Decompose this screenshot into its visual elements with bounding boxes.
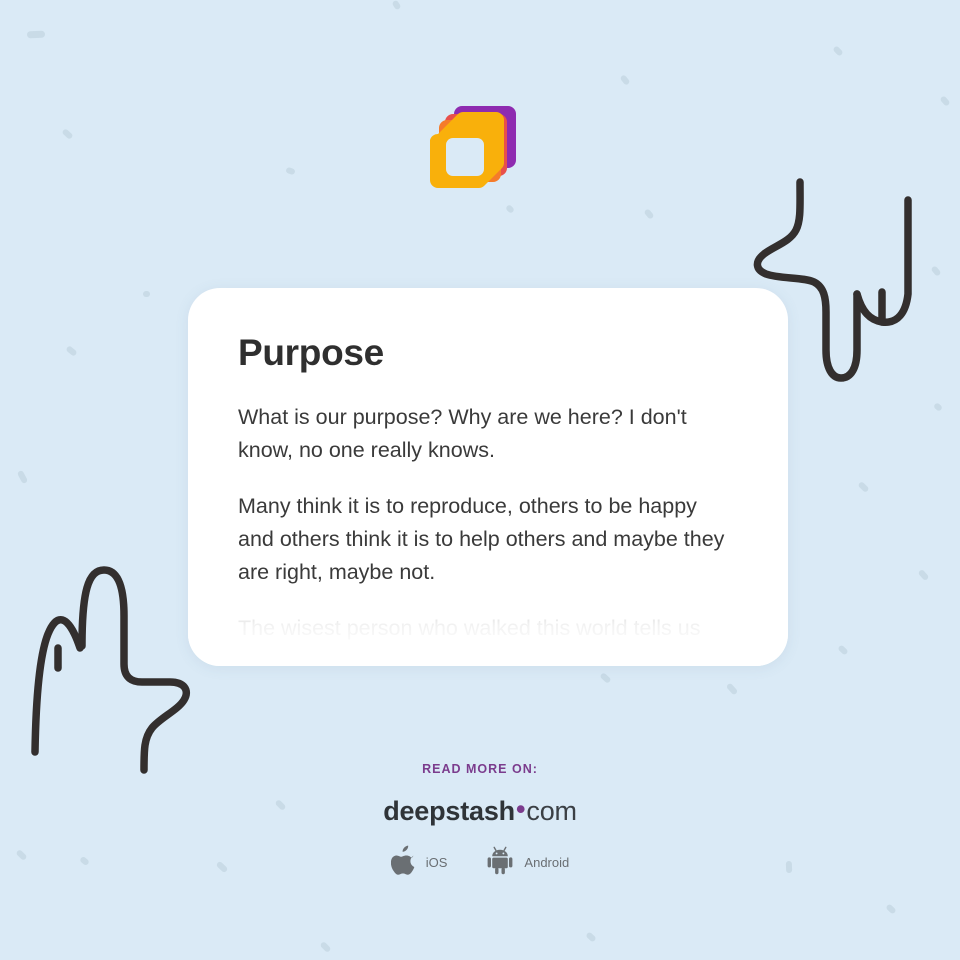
idea-card[interactable]: Purpose What is our purpose? Why are we … (188, 288, 788, 666)
confetti-dash (61, 128, 73, 140)
confetti-dash (17, 470, 28, 484)
read-more-label: READ MORE ON: (0, 762, 960, 776)
footer: READ MORE ON: deepstash•com iOS (0, 762, 960, 880)
confetti-dash (726, 683, 738, 696)
confetti-dash (939, 95, 950, 106)
apple-icon (391, 845, 417, 880)
android-store-link[interactable]: Android (485, 845, 569, 880)
confetti-dash (643, 208, 654, 220)
idea-paragraph-2: Many think it is to reproduce, others to… (238, 490, 738, 589)
confetti-dash (837, 644, 848, 655)
confetti-dash (27, 31, 45, 39)
store-links-row: iOS (0, 845, 960, 880)
confetti-dash (585, 931, 596, 942)
confetti-dash (918, 569, 930, 581)
deepstash-logo (428, 104, 518, 194)
confetti-dash (930, 265, 941, 277)
idea-paragraph-3-truncated: The wisest person who walked this world … (238, 612, 738, 645)
android-store-label: Android (524, 855, 569, 870)
confetti-dash (65, 345, 77, 357)
confetti-dash (832, 45, 843, 56)
ios-store-label: iOS (426, 855, 448, 870)
ios-store-link[interactable]: iOS (391, 845, 448, 880)
confetti-dash (392, 0, 402, 10)
confetti-dash (885, 903, 896, 914)
idea-paragraph-1: What is our purpose? Why are we here? I … (238, 401, 738, 467)
brand-dot: • (515, 796, 526, 823)
confetti-dash (285, 167, 295, 175)
logo-inner-cutout (446, 138, 484, 176)
confetti-dash (933, 402, 943, 412)
confetti-dash (143, 291, 150, 297)
confetti-dash (320, 941, 332, 953)
confetti-dash (620, 74, 631, 86)
page-title: Purpose (238, 334, 738, 373)
confetti-dash (599, 672, 611, 684)
android-icon (485, 845, 515, 880)
idea-card-content: Purpose What is our purpose? Why are we … (188, 288, 788, 666)
brand-wordmark[interactable]: deepstash•com (0, 798, 960, 825)
confetti-dash (857, 481, 869, 493)
brand-name: deepstash (383, 796, 515, 826)
brand-tld: com (526, 796, 576, 826)
pointing-up-hand-illustration (18, 552, 213, 787)
confetti-dash (505, 204, 515, 214)
